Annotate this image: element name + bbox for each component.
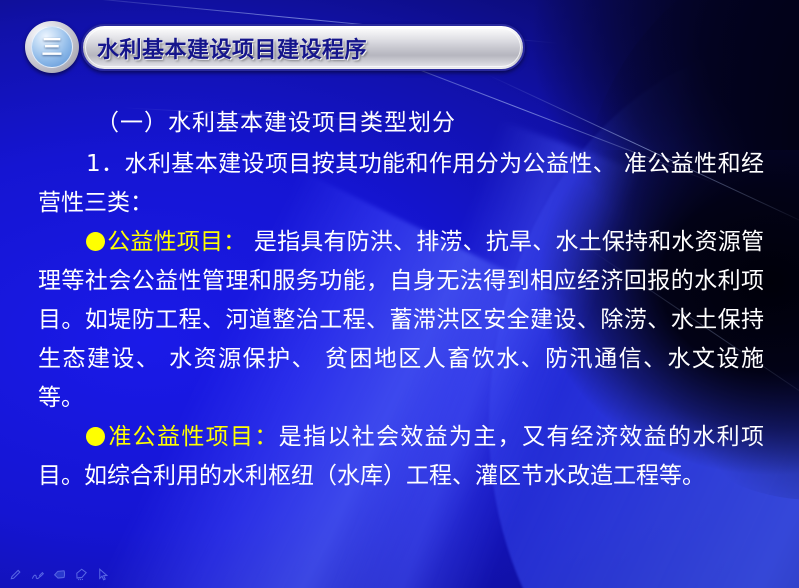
numbered-item-1: 1．水利基本建设项目按其功能和作用分为公益性、 准公益性和经营性三类： xyxy=(38,145,764,223)
bullet-label-quasi-public-welfare: 准公益性项目： xyxy=(107,424,279,450)
slide-body: （一）水利基本建设项目类型划分 1．水利基本建设项目按其功能和作用分为公益性、 … xyxy=(38,104,764,496)
highlighter-icon[interactable] xyxy=(51,566,68,583)
section-heading: （一）水利基本建设项目类型划分 xyxy=(38,104,764,143)
bullet-dot-icon xyxy=(86,232,105,251)
bullet-item-quasi-public-welfare: 准公益性项目：是指以社会效益为主，又有经济效益的水利项目。如综合利用的水利枢纽（… xyxy=(38,418,764,496)
bullet-text-public-welfare: 是指具有防洪、排涝、抗旱、水土保持和水资源管理等社会公益性管理和服务功能，自身无… xyxy=(38,229,764,411)
bullet-dot-icon xyxy=(86,427,105,446)
section-number-three-icon: 三 xyxy=(25,21,79,73)
presentation-slide: 水利基本建设项目建设程序 三 （一）水利基本建设项目类型划分 1．水利基本建设项… xyxy=(0,0,799,588)
bullet-item-public-welfare: 公益性项目： 是指具有防洪、排涝、抗旱、水土保持和水资源管理等社会公益性管理和服… xyxy=(38,223,764,418)
page-title: 水利基本建设项目建设程序 xyxy=(97,32,367,64)
slide-title-bar: 水利基本建设项目建设程序 三 xyxy=(25,21,525,73)
marker-pen-icon[interactable] xyxy=(29,566,46,583)
pen-icon[interactable] xyxy=(7,566,24,583)
annotation-toolbar[interactable] xyxy=(7,566,112,583)
section-number-three-glyph: 三 xyxy=(31,26,73,68)
eraser-icon[interactable] xyxy=(73,566,90,583)
bullet-label-public-welfare: 公益性项目： xyxy=(107,229,246,255)
cursor-arrow-icon[interactable] xyxy=(95,566,112,583)
